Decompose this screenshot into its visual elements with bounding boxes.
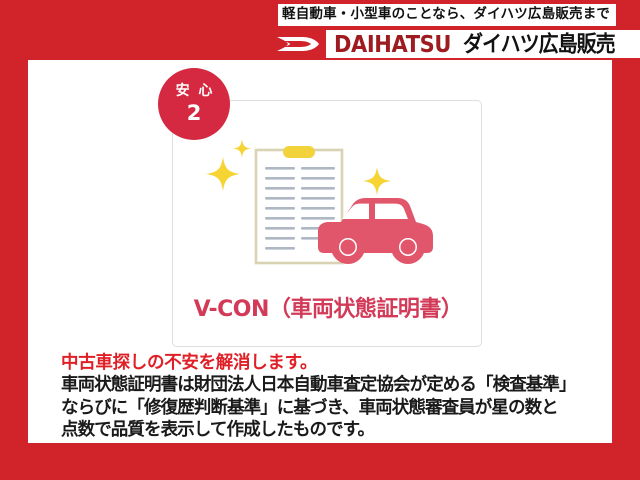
dealer-name-text: ダイハツ広島販売 xyxy=(463,33,615,55)
daihatsu-d-emblem-icon xyxy=(275,34,321,54)
anshin-badge: 安 心 2 xyxy=(158,68,230,140)
header-banner: 軽自動車・小型車のことなら、ダイハツ広島販売まで DAIHATSU ダイハツ広島… xyxy=(0,0,640,60)
badge-number: 2 xyxy=(187,103,202,124)
vcon-illustration xyxy=(201,131,456,271)
daihatsu-wordmark: DAIHATSU xyxy=(334,32,451,56)
brand-logo-strip: DAIHATSU ダイハツ広島販売 xyxy=(270,30,640,58)
description-line: ならびに「修復歴判断基準」に基づき、車両状態審査員が星の数と xyxy=(61,397,606,419)
description-line: 車両状態証明書は財団法人日本自動車査定協会が定める「検査基準」 xyxy=(61,374,606,396)
badge-label: 安 心 xyxy=(174,84,215,98)
description-line: 点数で品質を表示して作成したものです。 xyxy=(61,419,606,441)
tagline-text: 軽自動車・小型車のことなら、ダイハツ広島販売まで xyxy=(282,8,610,22)
sparkle-icon xyxy=(206,157,240,191)
description-block: 中古車探しの不安を解消します。 車両状態証明書は財団法人日本自動車査定協会が定め… xyxy=(61,353,606,442)
description-headline: 中古車探しの不安を解消します。 xyxy=(61,353,606,374)
sparkle-icon xyxy=(363,167,391,195)
tagline-strip: 軽自動車・小型車のことなら、ダイハツ広島販売まで xyxy=(278,4,616,26)
vcon-caption: V-CON（車両状態証明書） xyxy=(173,291,483,323)
sparkle-icon xyxy=(233,139,251,158)
content-panel: 安 心 2 xyxy=(28,60,612,443)
vcon-card: V-CON（車両状態証明書） xyxy=(172,100,482,347)
daihatsu-emblem-box xyxy=(270,30,326,58)
